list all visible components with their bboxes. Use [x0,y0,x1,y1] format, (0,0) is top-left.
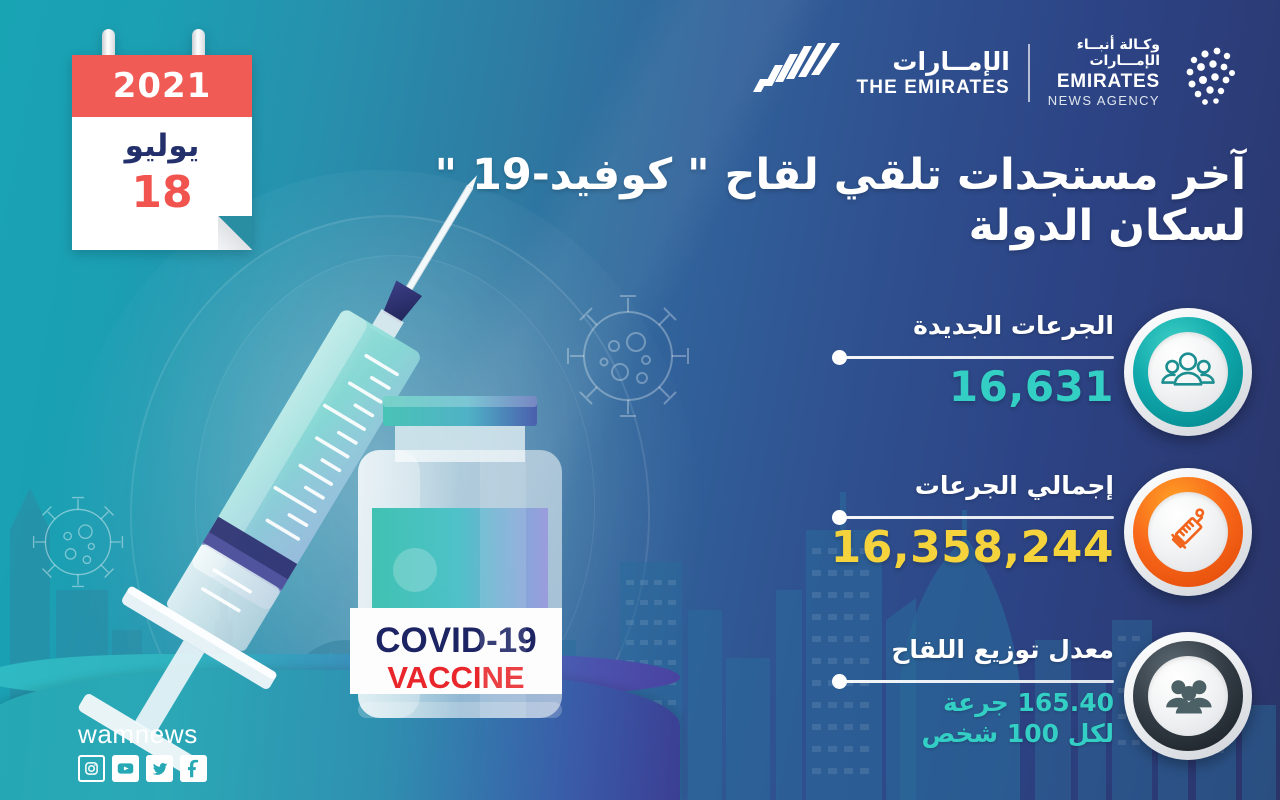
social-links [78,755,318,782]
emirates-bars-icon [751,42,843,104]
stat-new-doses-rule [839,356,1114,359]
news-agency-logo: وكـالة أنبــاء الإمـــارات EMIRATES NEWS… [1048,34,1250,112]
news-agency-arabic-2: الإمـــارات [1089,54,1160,69]
stat-distribution-rate-value: 165.40 جرعة لكل 100 شخص [834,688,1114,749]
stat-distribution-rate: معدل توزيع اللقاح 165.40 جرعة لكل 100 شخ… [832,632,1262,772]
people-group-outline-icon [1160,344,1216,400]
news-agency-english-1: EMIRATES [1057,72,1160,92]
stat-new-doses-label: الجرعات الجديدة [834,312,1114,340]
badge-inner-disc [1148,332,1228,412]
stat-new-doses-label-wrap: الجرعات الجديدة [834,312,1114,340]
stat-distribution-rate-rule [839,680,1114,683]
emirates-logo-english: THE EMIRATES [857,78,1010,97]
page-title-line1: آخر مستجدات تلقي لقاح " كوفيد-19 " [426,150,1246,201]
stat-total-doses-rule [839,516,1114,519]
facebook-icon[interactable] [180,755,207,782]
emirates-logo-text: الإمــارات THE EMIRATES [857,49,1010,97]
stat-new-doses-value: 16,631 [834,364,1114,409]
calendar-year: 2021 [113,69,212,103]
page-title: آخر مستجدات تلقي لقاح " كوفيد-19 " لسكان… [426,150,1246,251]
syringe-outline-icon [1160,504,1216,560]
stat-total-doses: إجمالي الجرعات 16,358,244 [832,468,1262,608]
stat-distribution-rate-label-wrap: معدل توزيع اللقاح [834,636,1114,664]
wamnews-brand: wamnews [78,721,318,747]
twitter-icon[interactable] [146,755,173,782]
calendar-body: يوليو 18 [72,117,252,250]
stat-total-doses-value: 16,358,244 [834,524,1114,572]
logo-divider [1028,44,1030,102]
page-title-line2: لسكان الدولة [426,201,1246,252]
infographic-canvas: COVID-19 VACCINE 2021 يوليو 18 [0,0,1280,800]
stat-distribution-rate-value-line2: لكل 100 شخص [834,719,1114,750]
stat-total-doses-label-wrap: إجمالي الجرعات [834,472,1114,500]
people-group-solid-icon [1160,668,1216,724]
virus-particle-icon [568,296,688,416]
calendar-fold-corner [218,216,252,250]
calendar-month: يوليو [72,129,252,163]
stat-new-doses: الجرعات الجديدة 16,631 [832,308,1262,448]
stat-distribution-rate-badge [1124,632,1252,760]
date-calendar: 2021 يوليو 18 [72,55,252,250]
news-agency-logo-text: وكـالة أنبــاء الإمـــارات EMIRATES NEWS… [1048,38,1160,108]
virus-particle-icon [34,498,123,587]
calendar-header: 2021 [72,55,252,117]
stat-total-doses-label: إجمالي الجرعات [834,472,1114,500]
stat-new-doses-badge [1124,308,1252,436]
news-agency-arabic-1: وكـالة أنبــاء [1077,38,1160,53]
emirates-logo: الإمــارات THE EMIRATES [751,42,1010,104]
footer-branding: wamnews [78,721,318,782]
stat-distribution-rate-value-line1: 165.40 جرعة [834,688,1114,719]
stat-total-doses-badge [1124,468,1252,596]
badge-inner-disc [1148,656,1228,736]
instagram-icon[interactable] [78,755,105,782]
badge-inner-disc [1148,492,1228,572]
stat-distribution-rate-label: معدل توزيع اللقاح [834,636,1114,664]
youtube-icon[interactable] [112,755,139,782]
wam-sphere-icon [1172,34,1250,112]
header-logos: الإمــارات THE EMIRATES وكـالة أنبــاء ا… [751,34,1250,112]
emirates-logo-arabic: الإمــارات [892,49,1009,74]
news-agency-english-2: NEWS AGENCY [1048,94,1160,108]
calendar-day: 18 [72,171,252,215]
